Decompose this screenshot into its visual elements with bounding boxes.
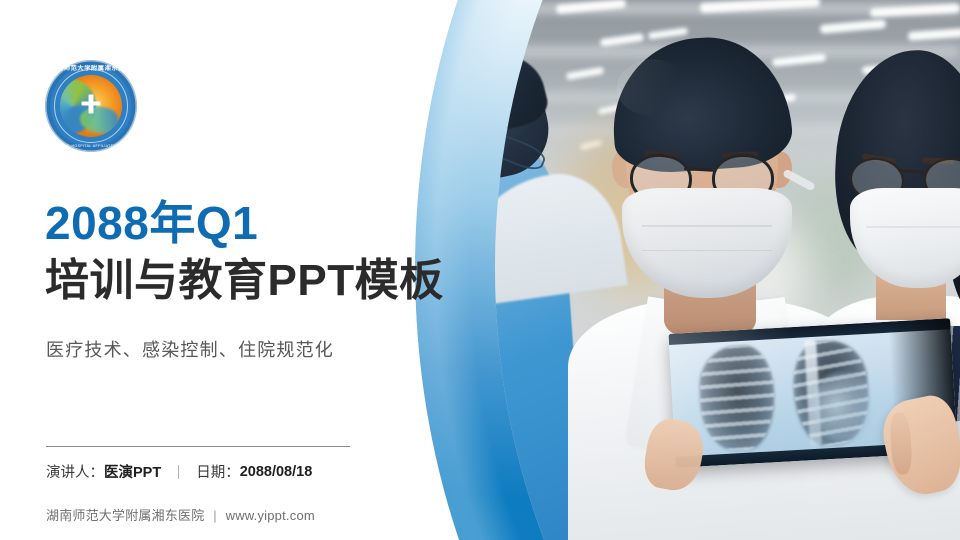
cover-text-panel: 湖南师范大学附属湘东医院 XIANGDONG HOSPITAL AFFILIAT… [0, 0, 430, 540]
presenter-value: 医演PPT [104, 461, 161, 482]
footer-separator: | [213, 508, 217, 523]
page-title: 培训与教育PPT模板 [45, 256, 444, 305]
organization-name: 湖南师范大学附属湘东医院 [46, 508, 204, 523]
presenter-and-date-row: 演讲人： 医演PPT 日期： 2088/08/18 [46, 461, 312, 482]
ceiling-light-icon [455, 7, 516, 21]
logo-chinese-text: 湖南师范大学附属湘东医院 [45, 63, 137, 72]
date-value: 2088/08/18 [240, 464, 313, 480]
website-url[interactable]: www.yippt.com [226, 508, 315, 523]
title-year: 2088年Q1 [45, 200, 258, 246]
logo-emblem [60, 75, 122, 137]
page-subtitle: 医疗技术、感染控制、住院规范化 [46, 336, 334, 362]
hospital-logo[interactable]: 湖南师范大学附属湘东医院 XIANGDONG HOSPITAL AFFILIAT… [45, 60, 137, 152]
logo-english-text: XIANGDONG HOSPITAL AFFILIATED HUNAN NORM… [45, 144, 137, 148]
presenter-label: 演讲人： [46, 461, 104, 482]
date-label: 日期： [196, 461, 240, 482]
medical-cross-icon [82, 94, 101, 113]
divider [46, 446, 350, 447]
footer-organization-line: 湖南师范大学附属湘东医院 | www.yippt.com [46, 505, 315, 524]
presentation-cover-slide: 湖南师范大学附属湘东医院 XIANGDONG HOSPITAL AFFILIAT… [0, 0, 960, 540]
meta-separator [178, 465, 179, 479]
